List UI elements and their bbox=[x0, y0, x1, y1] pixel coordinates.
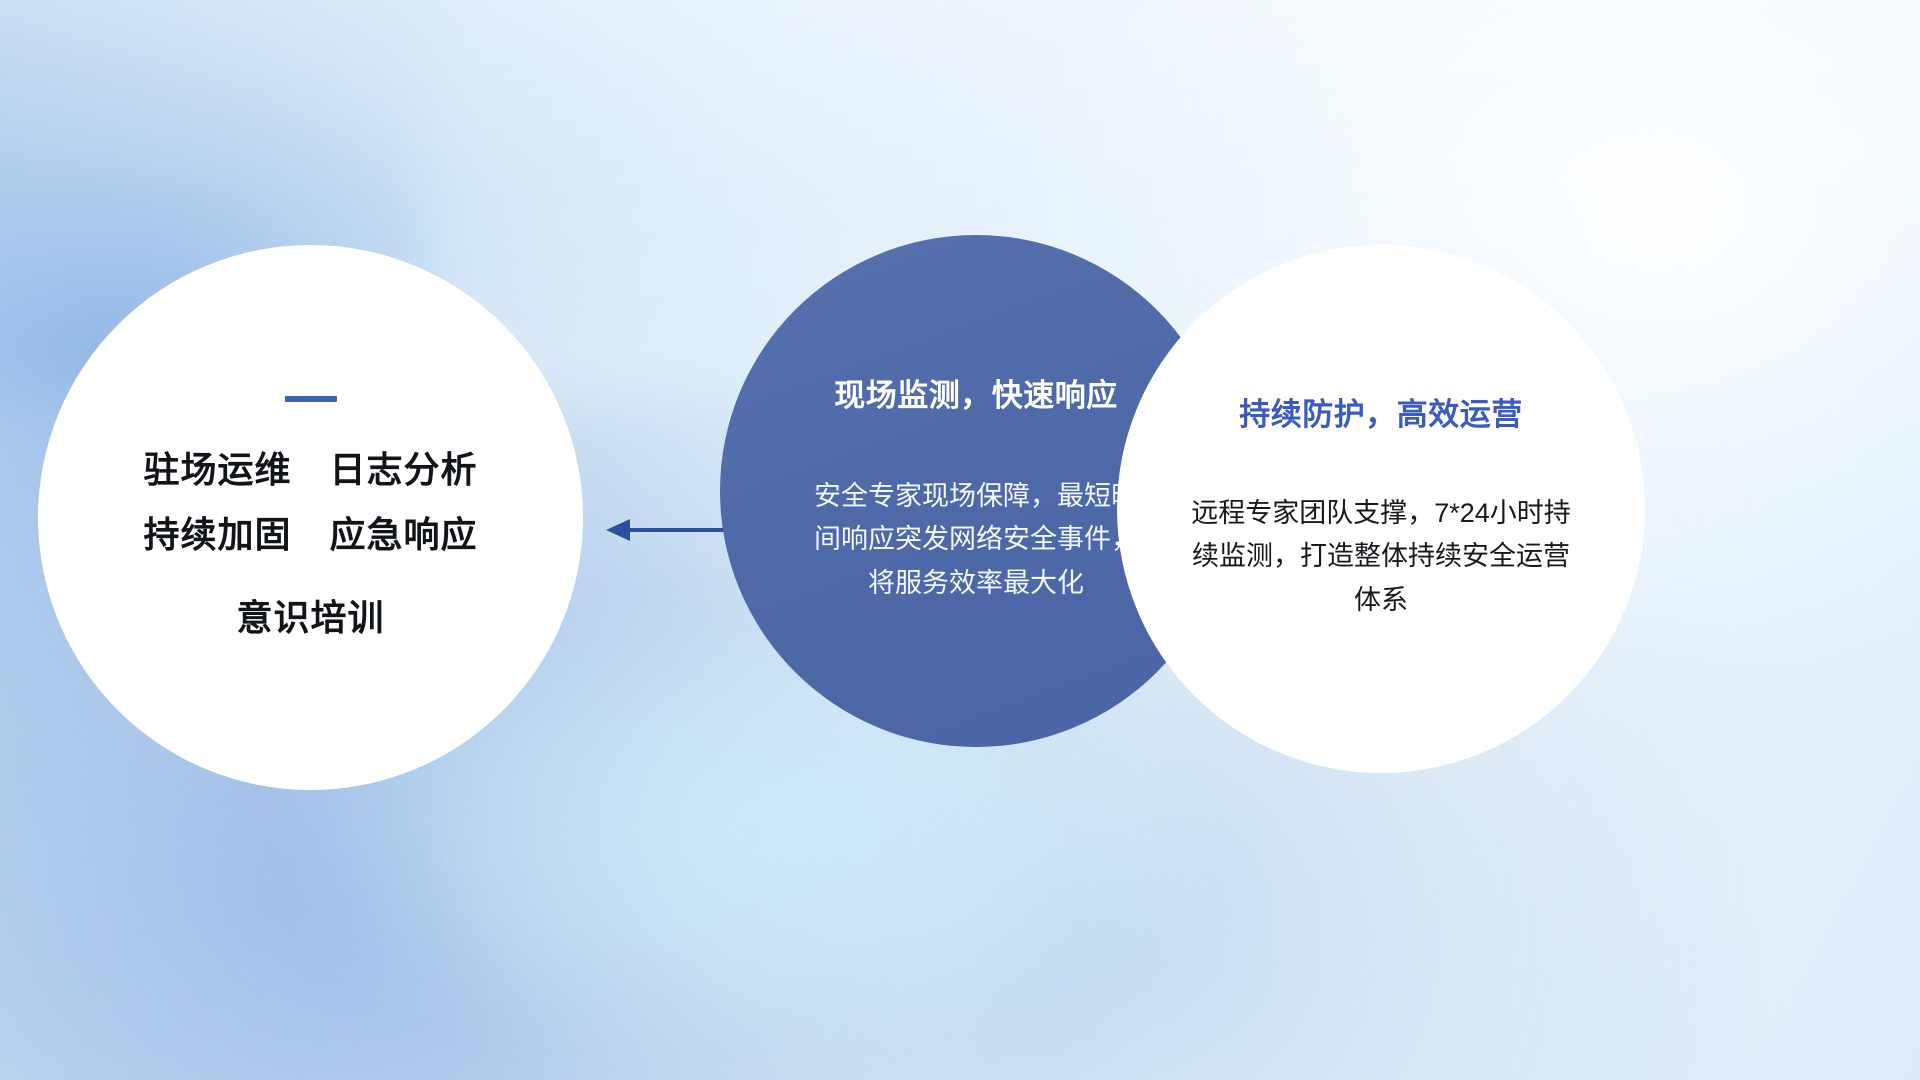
capabilities-circle[interactable]: 驻场运维 日志分析 持续加固 应急响应 意识培训 bbox=[38, 245, 583, 790]
accent-dash-icon bbox=[285, 396, 337, 402]
capability-tag-list: 驻场运维 日志分析 持续加固 应急响应 意识培训 bbox=[38, 447, 583, 640]
continuous-protection-circle[interactable]: 持续防护，高效运营 远程专家团队支撑，7*24小时持续监测，打造整体持续安全运营… bbox=[1117, 245, 1645, 773]
capability-tag-row: 意识培训 bbox=[38, 595, 583, 640]
capability-tag[interactable]: 意识培训 bbox=[236, 595, 384, 640]
slide-canvas: 驻场运维 日志分析 持续加固 应急响应 意识培训 现场监测，快速响应 安全专家现… bbox=[0, 0, 1920, 1080]
onsite-monitoring-body: 安全专家现场保障，最短时间响应突发网络安全事件，将服务效率最大化 bbox=[811, 475, 1141, 606]
capability-tag-row: 持续加固 应急响应 bbox=[38, 512, 583, 557]
capability-tag[interactable]: 驻场运维 bbox=[143, 447, 291, 492]
continuous-protection-title: 持续防护，高效运营 bbox=[1239, 395, 1523, 435]
capability-tag[interactable]: 应急响应 bbox=[330, 512, 478, 557]
capability-tag-row: 驻场运维 日志分析 bbox=[38, 447, 583, 492]
continuous-protection-body: 远程专家团队支撑，7*24小时持续监测，打造整体持续安全运营体系 bbox=[1181, 492, 1581, 623]
capability-tag[interactable]: 日志分析 bbox=[330, 447, 478, 492]
onsite-monitoring-title: 现场监测，快速响应 bbox=[834, 376, 1118, 416]
capability-tag[interactable]: 持续加固 bbox=[143, 512, 291, 557]
